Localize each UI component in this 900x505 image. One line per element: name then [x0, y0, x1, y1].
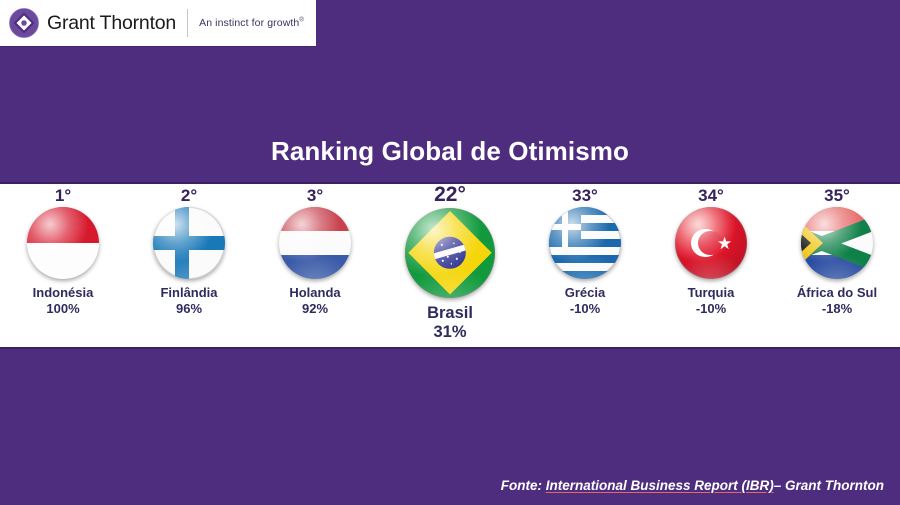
brand-tagline: An instinct for growth®	[199, 17, 304, 29]
footnote-suffix: – Grant Thornton	[774, 478, 884, 493]
country-item-finlandia[interactable]: 2° Finlândia 96%	[130, 182, 248, 317]
country-item-turquia[interactable]: 34° ★ Turquia -10%	[652, 182, 770, 317]
greece-flag-icon	[549, 207, 621, 279]
grant-thornton-diamond-icon	[9, 8, 39, 38]
logo-divider	[187, 9, 188, 37]
flag-wrap	[801, 207, 873, 279]
country-row: 1° Indonésia 100% 2° Finlândia 9	[0, 182, 900, 349]
country-item-indonesia[interactable]: 1° Indonésia 100%	[4, 182, 122, 317]
flag-wrap	[153, 207, 225, 279]
flag-wrap: ★	[675, 207, 747, 279]
country-item-africa-do-sul[interactable]: 35° África do Sul -18%	[778, 182, 896, 317]
flag-wrap	[27, 207, 99, 279]
page-title: Ranking Global de Otimismo	[0, 136, 900, 167]
rank-label: 3°	[307, 186, 323, 205]
footnote-abbrev: (IBR)	[738, 478, 774, 493]
source-footnote: Fonte: International Business Report (IB…	[501, 478, 884, 493]
flag-wrap	[549, 207, 621, 279]
flag-wrap	[279, 207, 351, 279]
brand-tagline-text: An instinct for growth	[199, 17, 299, 29]
turkey-flag-icon: ★	[675, 207, 747, 279]
rank-label: 22°	[434, 183, 466, 206]
country-name: Holanda	[289, 285, 340, 301]
country-percent: -18%	[822, 301, 852, 317]
netherlands-flag-icon	[279, 207, 351, 279]
country-item-grecia[interactable]: 33° Grécia -10%	[526, 182, 644, 317]
rank-label: 1°	[55, 186, 71, 205]
ranking-band: 1° Indonésia 100% 2° Finlândia 9	[0, 182, 900, 349]
rank-label: 33°	[572, 186, 598, 205]
country-name: Grécia	[565, 285, 605, 301]
south-africa-flag-icon	[801, 207, 873, 279]
brand-logo-bar: Grant Thornton An instinct for growth®	[0, 0, 316, 46]
country-name: Brasil	[427, 304, 473, 323]
country-item-holanda[interactable]: 3° Holanda 92%	[256, 182, 374, 317]
country-percent: 96%	[176, 301, 202, 317]
footnote-source-title: International Business Report	[546, 478, 738, 493]
country-percent: 100%	[46, 301, 79, 317]
country-percent: 31%	[433, 323, 466, 342]
indonesia-flag-icon	[27, 207, 99, 279]
country-percent: -10%	[696, 301, 726, 317]
rank-label: 2°	[181, 186, 197, 205]
slide-canvas: Grant Thornton An instinct for growth® R…	[0, 0, 900, 505]
star-icon: ★	[717, 235, 733, 251]
finland-flag-icon	[153, 207, 225, 279]
country-name: África do Sul	[797, 285, 877, 301]
country-name: Turquia	[688, 285, 735, 301]
trademark-mark: ®	[299, 18, 304, 24]
rank-label: 35°	[824, 186, 850, 205]
country-name: Finlândia	[160, 285, 217, 301]
country-item-brasil[interactable]: 22°	[382, 182, 518, 342]
brazil-flag-icon	[405, 208, 495, 298]
country-percent: 92%	[302, 301, 328, 317]
brand-wordmark: Grant Thornton	[47, 12, 176, 35]
rank-label: 34°	[698, 186, 724, 205]
country-name: Indonésia	[33, 285, 94, 301]
country-percent: -10%	[570, 301, 600, 317]
footnote-prefix: Fonte:	[501, 478, 546, 493]
flag-wrap	[405, 208, 495, 298]
